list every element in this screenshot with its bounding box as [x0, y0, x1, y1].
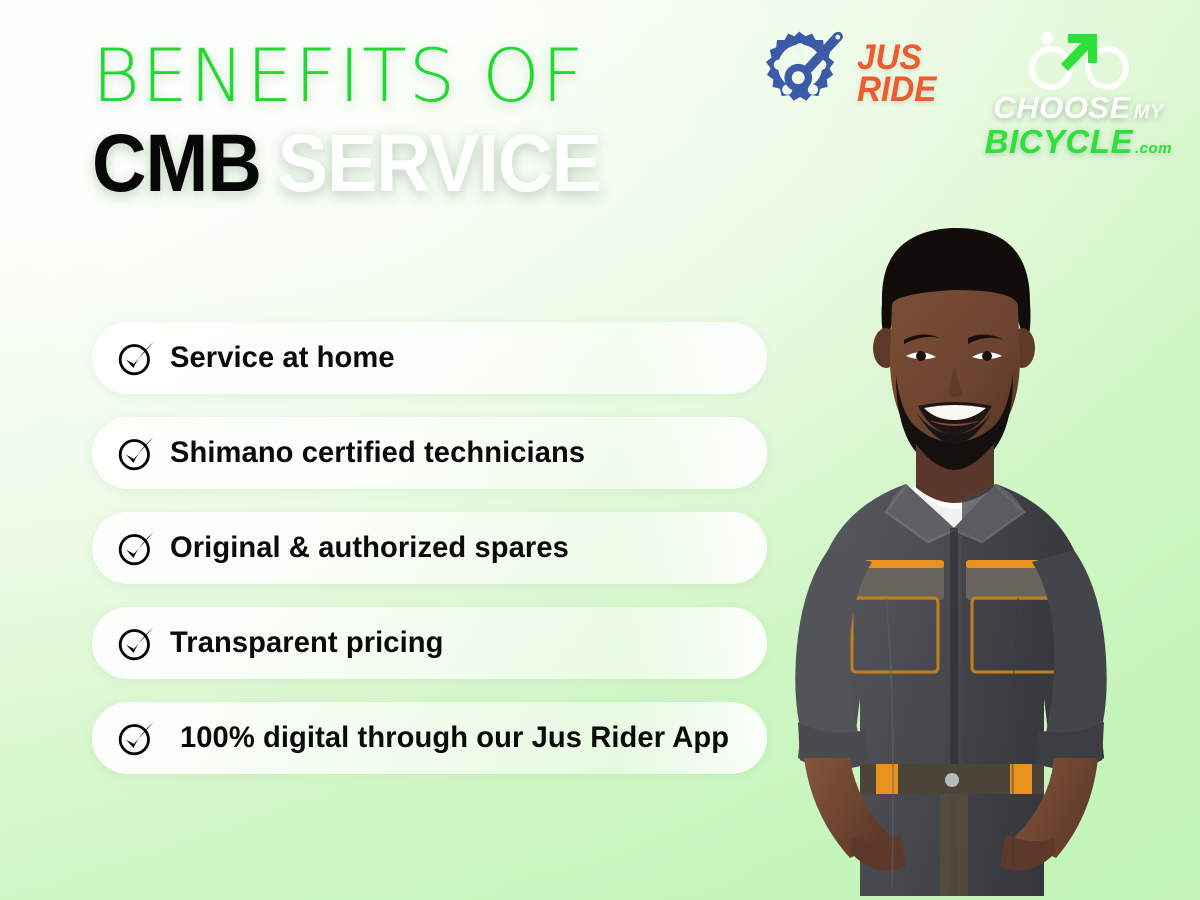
- check-circle-icon: [116, 718, 156, 758]
- benefit-item-1[interactable]: Service at home: [92, 322, 767, 394]
- benefits-list: Service at home Shimano certified techni…: [92, 322, 767, 797]
- mechanic-illustration: [700, 198, 1200, 900]
- benefit-item-2[interactable]: Shimano certified technicians: [92, 417, 767, 489]
- headline-line-1: BENEFITS OF: [92, 42, 645, 111]
- benefit-item-5[interactable]: 100% digital through our Jus Rider App: [92, 702, 767, 774]
- benefit-label: 100% digital through our Jus Rider App: [180, 721, 729, 755]
- benefit-item-4[interactable]: Transparent pricing: [92, 607, 767, 679]
- benefit-label: Shimano certified technicians: [170, 436, 585, 470]
- jusride-word-2: RIDE: [857, 74, 936, 106]
- cmb-word-dotcom: .com: [1135, 141, 1172, 156]
- mechanic-photo: [700, 198, 1200, 900]
- headline-cmb: CMB: [92, 118, 261, 209]
- chainring-crank-icon: [755, 26, 847, 122]
- poster-canvas: BENEFITS OF CMBSERVICE: [0, 0, 1200, 900]
- check-circle-icon: [116, 338, 156, 378]
- headline-service: SERVICE: [278, 118, 601, 209]
- headline-line-2: CMBSERVICE: [92, 125, 601, 203]
- check-circle-icon: [116, 623, 156, 663]
- cmb-word-choose: CHOOSE: [993, 92, 1130, 123]
- benefit-item-3[interactable]: Original & authorized spares: [92, 512, 767, 584]
- cmb-word-bicycle: BICYCLE: [985, 125, 1133, 158]
- benefit-label: Service at home: [170, 341, 395, 375]
- cmb-wordmark-line-2: BICYCLE.com: [985, 125, 1172, 158]
- cmb-wordmark-line-1: CHOOSEMY: [993, 92, 1163, 123]
- check-circle-icon: [116, 433, 156, 473]
- check-circle-icon: [116, 528, 156, 568]
- headline-block: BENEFITS OF CMBSERVICE: [92, 42, 645, 203]
- cmb-word-my: MY: [1134, 103, 1164, 122]
- logo-row: JUS RIDE CHOOSEMY BICYCLE.com: [755, 26, 1172, 158]
- jusride-logo[interactable]: JUS RIDE: [755, 26, 941, 122]
- bicycle-arrow-icon: [1023, 26, 1133, 92]
- choosemybicycle-logo[interactable]: CHOOSEMY BICYCLE.com: [985, 26, 1172, 158]
- benefit-label: Original & authorized spares: [170, 531, 569, 565]
- benefit-label: Transparent pricing: [170, 626, 444, 660]
- jusride-wordmark: JUS RIDE: [857, 42, 936, 106]
